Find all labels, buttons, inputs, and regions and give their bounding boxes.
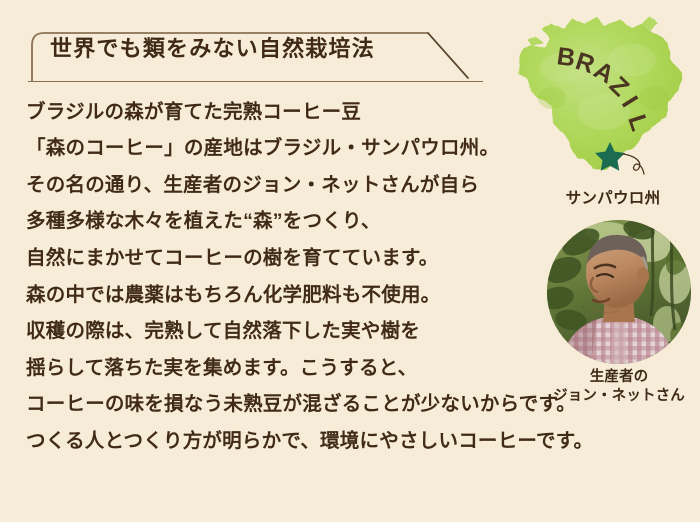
producer-caption: 生産者の ジョン・ネットさん: [528, 368, 700, 406]
heading-underline: [28, 81, 483, 82]
heading-block: 世界でも類をみない自然栽培法: [28, 30, 488, 82]
body-line: つくる人とつくり方が明らかで、環境にやさしいコーヒーです。: [26, 423, 674, 460]
producer-portrait: [547, 220, 691, 364]
producer-caption-line-1: 生産者の: [528, 368, 700, 387]
brazil-map-illustration: B R A Z I L サンパウロ州: [492, 2, 700, 217]
producer-avatar: [547, 220, 691, 364]
infographic-panel: 世界でも類をみない自然栽培法 ブラジルの森が育てた完熟コーヒー豆 「森のコーヒー…: [0, 0, 700, 522]
producer-photo-block: 生産者の ジョン・ネットさん: [544, 220, 694, 405]
page-title: 世界でも類をみない自然栽培法: [50, 38, 375, 60]
brazil-map-shape: B R A Z I L: [492, 2, 700, 184]
region-label: サンパウロ州: [538, 186, 688, 208]
producer-caption-line-2: ジョン・ネットさん: [528, 387, 700, 406]
